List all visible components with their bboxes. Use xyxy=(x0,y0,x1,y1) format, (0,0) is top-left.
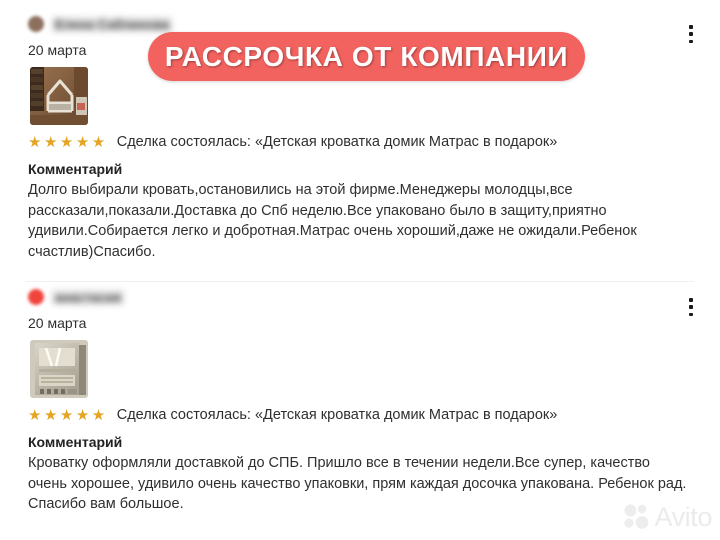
avatar xyxy=(28,289,44,305)
deal-line: ★★★★★ Сделка состоялась: «Детская кроват… xyxy=(0,407,720,424)
promo-banner-label: РАССРОЧКА ОТ КОМПАНИИ xyxy=(165,41,568,73)
comment-text: Долго выбирали кровать,остановились на э… xyxy=(0,180,710,262)
kebab-dot xyxy=(689,32,693,36)
kebab-dot xyxy=(689,298,693,302)
star-rating-icon: ★★★★★ xyxy=(28,408,108,423)
kebab-menu-icon[interactable] xyxy=(682,296,700,318)
kebab-dot xyxy=(689,40,693,44)
comment-heading: Комментарий xyxy=(0,160,720,178)
review-photo-thumbnail[interactable] xyxy=(30,67,88,125)
review-card: анастасия 20 марта xyxy=(0,285,720,515)
star-rating-icon: ★★★★★ xyxy=(28,135,108,150)
deal-text: Сделка состоялась: «Детская кроватка дом… xyxy=(117,134,558,151)
kebab-menu-icon[interactable] xyxy=(682,23,700,45)
comment-heading: Комментарий xyxy=(0,433,720,451)
review-author-name[interactable]: Елена Саблинова xyxy=(52,17,172,32)
review-divider xyxy=(26,281,694,282)
kebab-dot xyxy=(689,305,693,309)
packaged-bed-photo-image xyxy=(30,340,88,398)
review-photo-thumbnail[interactable] xyxy=(30,340,88,398)
bed-photo-image xyxy=(30,67,88,125)
review-date: 20 марта xyxy=(0,314,720,332)
kebab-dot xyxy=(689,25,693,29)
promo-banner: РАССРОЧКА ОТ КОМПАНИИ xyxy=(148,32,585,81)
review-author-name[interactable]: анастасия xyxy=(52,290,124,305)
comment-text: Кроватку оформляли доставкой до СПБ. При… xyxy=(0,453,710,515)
kebab-dot xyxy=(689,313,693,317)
avatar xyxy=(28,16,44,32)
review-header: анастасия xyxy=(0,285,720,309)
deal-text: Сделка состоялась: «Детская кроватка дом… xyxy=(117,407,558,424)
reviews-page: РАССРОЧКА ОТ КОМПАНИИ Елена Саблинова 20… xyxy=(0,0,720,540)
deal-line: ★★★★★ Сделка состоялась: «Детская кроват… xyxy=(0,134,720,151)
